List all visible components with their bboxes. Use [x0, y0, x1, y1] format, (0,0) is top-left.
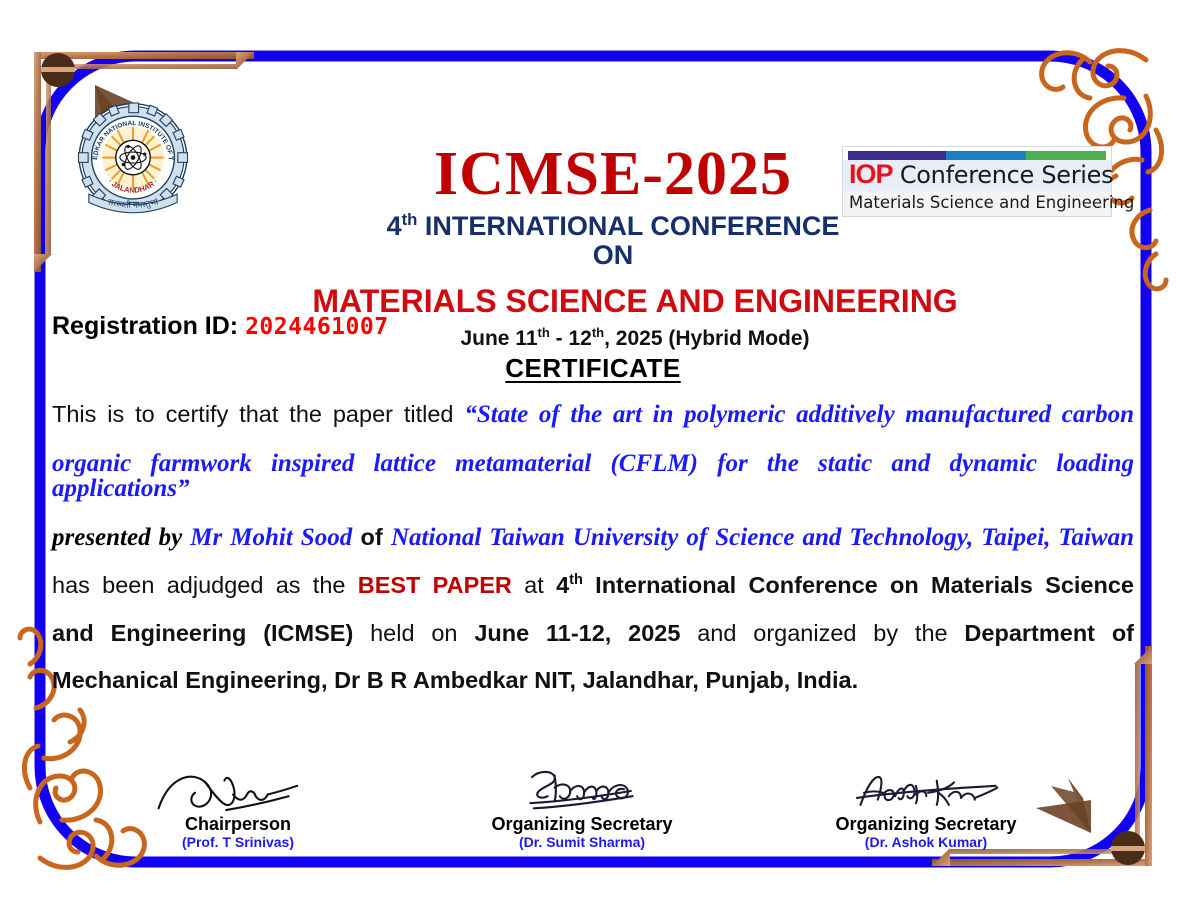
- certify-prefix: This is to certify that the paper titled: [52, 401, 464, 427]
- signature-block: Chairperson (Prof. T Srinivas): [52, 765, 1134, 850]
- author-name: Mr Mohit Sood: [190, 524, 352, 551]
- organized-prefix: and organized by the: [680, 620, 964, 646]
- conference-ordinal-suffix: th: [569, 572, 583, 588]
- edition-number: 4: [387, 211, 402, 241]
- statement-line-1: This is to certify that the paper titled…: [52, 402, 1134, 427]
- award-label: BEST PAPER: [358, 572, 512, 598]
- author-affiliation: National Taiwan University of Science an…: [391, 524, 1134, 551]
- adjudged-prefix: has been adjudged as the: [52, 572, 358, 598]
- signature-role: Organizing Secretary: [422, 815, 742, 834]
- registration-label: Registration ID:: [52, 312, 238, 340]
- signature-ashok-kumar-icon: [831, 765, 1022, 817]
- conference-ordinal: 4: [556, 572, 569, 598]
- at-word: at: [512, 572, 556, 598]
- statement-line-4: has been adjudged as the BEST PAPER at 4…: [52, 574, 1134, 598]
- conference-edition-line: 4th INTERNATIONAL CONFERENCE: [86, 211, 1140, 241]
- signature-name: (Dr. Ashok Kumar): [766, 835, 1086, 850]
- certificate-statement: This is to certify that the paper titled…: [52, 402, 1134, 693]
- signature-role: Organizing Secretary: [766, 815, 1086, 834]
- signature-organizing-secretary-kumar: Organizing Secretary (Dr. Ashok Kumar): [766, 765, 1086, 850]
- conference-acronym: ICMSE-2025: [86, 142, 1140, 207]
- certificate-content: DR. B.R. AMBEDKAR NATIONAL INSTITUTE OF …: [46, 52, 1140, 864]
- conference-on-word: ON: [86, 241, 1140, 271]
- signature-name: (Dr. Sumit Sharma): [422, 835, 742, 850]
- conference-name-part-2: and Engineering (ICMSE): [52, 620, 353, 646]
- signature-name: (Prof. T Srinivas): [78, 835, 398, 850]
- signature-organizing-secretary-sharma: Organizing Secretary (Dr. Sumit Sharma): [422, 765, 742, 850]
- conference-title-block: ICMSE-2025 4th INTERNATIONAL CONFERENCE …: [216, 52, 1140, 351]
- edition-ordinal-suffix: th: [402, 210, 418, 229]
- statement-line-5: and Engineering (ICMSE) held on June 11-…: [52, 622, 1134, 646]
- registration-line: Registration ID: 2024461007: [52, 312, 1134, 341]
- certificate: DR. B.R. AMBEDKAR NATIONAL INSTITUTE OF …: [0, 0, 1186, 918]
- held-on-label: held on: [353, 620, 474, 646]
- paper-title-part-2: organic farmwork inspired lattice metama…: [52, 450, 1134, 502]
- statement-line-2: organic farmwork inspired lattice metama…: [52, 451, 1134, 501]
- signature-sharma-icon: [487, 765, 678, 817]
- presented-by-label: presented by: [52, 524, 190, 551]
- paper-title-part-1: “State of the art in polymeric additivel…: [464, 401, 1134, 428]
- of-word: of: [352, 524, 391, 550]
- certificate-heading: CERTIFICATE: [52, 353, 1134, 384]
- signature-srinivas-icon: [143, 765, 334, 817]
- event-dates: June 11-12, 2025: [474, 620, 680, 646]
- signature-chairperson: Chairperson (Prof. T Srinivas): [78, 765, 398, 850]
- organizer-part-1: Department of: [964, 620, 1134, 646]
- edition-text: INTERNATIONAL CONFERENCE: [417, 211, 839, 241]
- organizer-part-2: Mechanical Engineering, Dr B R Ambedkar …: [52, 667, 858, 693]
- statement-line-3: presented by Mr Mohit Sood of National T…: [52, 525, 1134, 550]
- registration-id-value: 2024461007: [245, 314, 388, 340]
- certificate-body: Registration ID: 2024461007 CERTIFICATE …: [46, 312, 1140, 693]
- conference-name-part-1: International Conference on Materials Sc…: [583, 572, 1134, 598]
- signature-role: Chairperson: [78, 815, 398, 834]
- certificate-header: DR. B.R. AMBEDKAR NATIONAL INSTITUTE OF …: [46, 52, 1140, 302]
- statement-line-6: Mechanical Engineering, Dr B R Ambedkar …: [52, 669, 1134, 693]
